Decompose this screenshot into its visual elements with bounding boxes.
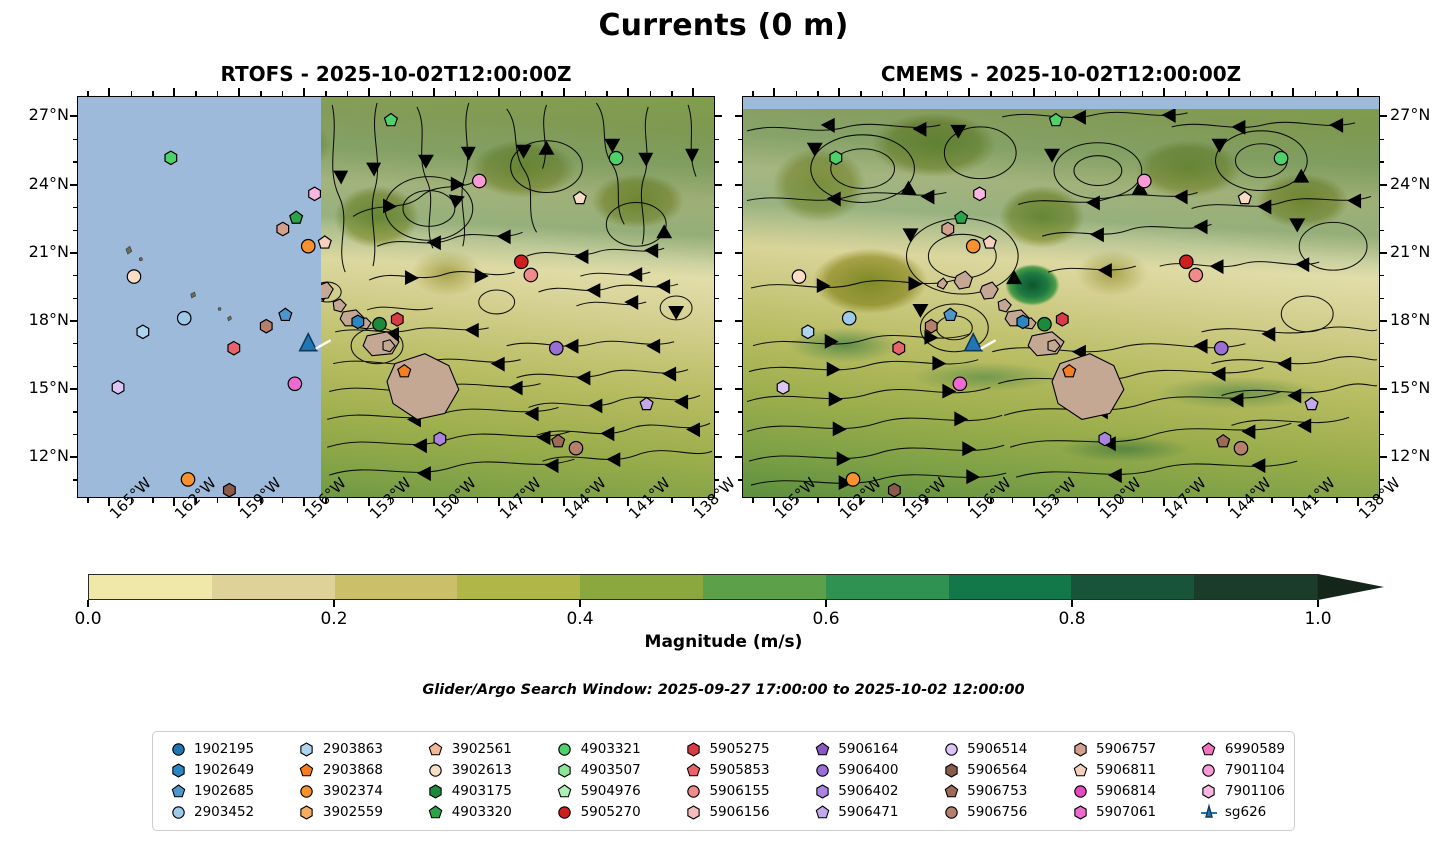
platform-marker[interactable] bbox=[1274, 151, 1287, 164]
platform-marker[interactable] bbox=[373, 317, 386, 330]
xtick-minor bbox=[1250, 498, 1251, 503]
platform-markers-cmems[interactable] bbox=[743, 97, 1379, 497]
xtick-top bbox=[303, 88, 305, 96]
legend-item[interactable]: 5906756 bbox=[935, 802, 1064, 822]
platform-marker[interactable] bbox=[925, 319, 937, 332]
platform-marker[interactable] bbox=[846, 473, 859, 486]
xtick-minor bbox=[282, 498, 283, 503]
xtick-minor bbox=[1336, 498, 1337, 503]
platform-marker[interactable] bbox=[260, 319, 272, 332]
xtick-minor bbox=[1055, 498, 1056, 503]
ytick bbox=[70, 320, 77, 322]
legend-item[interactable]: 7901106 bbox=[1193, 781, 1285, 801]
colorbar-tick-label: 0.6 bbox=[812, 609, 839, 629]
platform-marker[interactable] bbox=[290, 211, 303, 223]
ytick bbox=[1380, 115, 1387, 117]
platform-marker-icon bbox=[420, 785, 452, 798]
ytick-minor bbox=[73, 139, 77, 140]
xtick-minor bbox=[1185, 498, 1186, 503]
platform-marker[interactable] bbox=[1215, 341, 1228, 354]
legend-item[interactable]: 5906753 bbox=[935, 781, 1064, 801]
colorbar-tick-label: 1.0 bbox=[1304, 609, 1331, 629]
platform-marker[interactable] bbox=[889, 483, 901, 496]
legend-item-label: 4903507 bbox=[581, 762, 641, 778]
ytick bbox=[715, 115, 722, 117]
legend-item-label: 5906564 bbox=[967, 762, 1027, 778]
platform-marker[interactable] bbox=[137, 325, 149, 338]
platform-marker[interactable] bbox=[942, 222, 954, 235]
xtick-minor bbox=[520, 498, 521, 503]
platform-legend: 1902195190264919026852903452290386329038… bbox=[152, 731, 1295, 831]
legend-item[interactable]: 5906814 bbox=[1064, 781, 1193, 801]
xtick-top-minor bbox=[1185, 91, 1186, 96]
platform-marker[interactable] bbox=[842, 311, 855, 324]
xtick-top-minor bbox=[477, 91, 478, 96]
legend-item[interactable]: 4903321 bbox=[549, 739, 678, 759]
platform-marker[interactable] bbox=[277, 222, 289, 235]
colorbar-extend-arrow bbox=[1318, 574, 1384, 600]
xtick-top-minor bbox=[1206, 91, 1207, 96]
platform-marker-icon bbox=[549, 785, 581, 798]
xtick-minor bbox=[882, 498, 883, 503]
xtick-minor bbox=[752, 498, 753, 503]
ytick-minor bbox=[73, 366, 77, 367]
platform-marker-icon bbox=[935, 785, 967, 798]
xtick-minor bbox=[347, 498, 348, 503]
legend-item[interactable]: 5906156 bbox=[677, 802, 806, 822]
xtick-minor bbox=[390, 498, 391, 503]
platform-marker[interactable] bbox=[893, 341, 905, 354]
legend-item-label: 5906811 bbox=[1096, 762, 1156, 778]
platform-marker[interactable] bbox=[127, 270, 140, 283]
colorbar-gradient bbox=[88, 574, 1318, 600]
platform-marker-icon bbox=[291, 764, 323, 777]
xtick-top-minor bbox=[817, 91, 818, 96]
xtick-top-minor bbox=[925, 91, 926, 96]
legend-item-label: 3902559 bbox=[323, 804, 383, 820]
legend-grid: 1902195190264919026852903452290386329038… bbox=[162, 739, 1285, 822]
xtick-minor bbox=[217, 498, 218, 503]
legend-item-label: 2903863 bbox=[323, 741, 383, 757]
xtick-top-minor bbox=[260, 91, 261, 96]
platform-marker[interactable] bbox=[1180, 255, 1193, 268]
platform-marker-icon bbox=[677, 806, 709, 819]
colorbar-segment-7 bbox=[949, 575, 1072, 599]
legend-item-label: 4903321 bbox=[581, 741, 641, 757]
legend-item[interactable]: 4903507 bbox=[549, 760, 678, 780]
xtick-top-minor bbox=[1315, 91, 1316, 96]
xtick-top-minor bbox=[860, 91, 861, 96]
colorbar-tick bbox=[825, 600, 827, 607]
legend-item-label: 1902649 bbox=[194, 762, 254, 778]
legend-item-label: 3902374 bbox=[323, 783, 383, 799]
platform-marker[interactable] bbox=[550, 341, 563, 354]
legend-item-label: 2903868 bbox=[323, 762, 383, 778]
legend-item[interactable]: 5906400 bbox=[806, 760, 935, 780]
legend-item[interactable]: 2903868 bbox=[291, 760, 420, 780]
platform-marker-icon bbox=[420, 806, 452, 819]
colorbar-tick bbox=[87, 600, 89, 607]
platform-marker[interactable] bbox=[279, 308, 292, 320]
legend-item-label: 5906164 bbox=[838, 741, 898, 757]
platform-marker[interactable] bbox=[1238, 191, 1251, 203]
ytick-minor bbox=[738, 411, 742, 412]
xtick-top-minor bbox=[1336, 91, 1337, 96]
ytick bbox=[715, 252, 722, 254]
colorbar-tick-label: 0.2 bbox=[320, 609, 347, 629]
legend-item-label: 5906756 bbox=[967, 804, 1027, 820]
colorbar[interactable] bbox=[88, 574, 1318, 600]
legend-item[interactable]: 3902561 bbox=[420, 739, 549, 759]
platform-marker[interactable] bbox=[944, 308, 957, 320]
xtick-top-minor bbox=[585, 91, 586, 96]
platform-marker-icon bbox=[162, 764, 194, 777]
platform-marker[interactable] bbox=[1189, 268, 1202, 281]
platform-marker[interactable] bbox=[1017, 315, 1029, 328]
platform-marker-icon bbox=[935, 764, 967, 777]
ytick-minor bbox=[715, 207, 719, 208]
xtick-minor bbox=[87, 498, 88, 503]
platform-marker-icon bbox=[935, 806, 967, 819]
xtick-minor bbox=[1315, 498, 1316, 503]
platform-marker[interactable] bbox=[1038, 317, 1051, 330]
legend-item-label: 5906471 bbox=[838, 804, 898, 820]
xtick-minor bbox=[606, 498, 607, 503]
platform-marker[interactable] bbox=[802, 325, 814, 338]
xtick-top bbox=[627, 88, 629, 96]
platform-marker[interactable] bbox=[983, 236, 996, 248]
xtick-top-minor bbox=[520, 91, 521, 96]
xtick-minor bbox=[1012, 498, 1013, 503]
xtick-minor bbox=[195, 498, 196, 503]
ytick-minor bbox=[738, 479, 742, 480]
platform-marker[interactable] bbox=[1138, 174, 1151, 187]
ytick-label-right: 21°N bbox=[1390, 242, 1430, 261]
xtick-top bbox=[903, 88, 905, 96]
legend-item[interactable]: 5906402 bbox=[806, 781, 935, 801]
platform-marker-icon bbox=[1064, 806, 1096, 819]
legend-item[interactable]: 5906757 bbox=[1064, 739, 1193, 759]
platform-marker-icon bbox=[291, 743, 323, 756]
xtick-top bbox=[1033, 88, 1035, 96]
platform-marker-icon bbox=[1064, 764, 1096, 777]
ytick bbox=[1380, 388, 1387, 390]
ytick bbox=[715, 388, 722, 390]
platform-marker[interactable] bbox=[524, 268, 537, 281]
platform-marker[interactable] bbox=[228, 341, 240, 354]
platform-marker-icon bbox=[806, 785, 838, 798]
platform-marker-icon bbox=[162, 785, 194, 798]
xtick-top-minor bbox=[131, 91, 132, 96]
legend-item-label: 5906757 bbox=[1096, 741, 1156, 757]
legend-item-label: 5906753 bbox=[967, 783, 1027, 799]
xtick-minor bbox=[650, 498, 651, 503]
ytick-minor bbox=[738, 343, 742, 344]
xtick-top bbox=[433, 88, 435, 96]
platform-marker[interactable] bbox=[177, 311, 190, 324]
xtick-top bbox=[108, 88, 110, 96]
platform-marker[interactable] bbox=[609, 151, 622, 164]
legend-item-label: 5906814 bbox=[1096, 783, 1156, 799]
ytick-label-left: 27°N bbox=[3, 105, 69, 124]
platform-marker[interactable] bbox=[1050, 113, 1063, 125]
map-panel-rtofs[interactable] bbox=[77, 96, 715, 498]
colorbar-segment-8 bbox=[1071, 575, 1194, 599]
platform-marker[interactable] bbox=[573, 191, 586, 203]
xtick-top bbox=[1357, 88, 1359, 96]
xtick-top-minor bbox=[152, 91, 153, 96]
platform-marker-icon bbox=[1193, 785, 1225, 798]
platform-marker[interactable] bbox=[385, 113, 398, 125]
platform-marker-icon bbox=[677, 764, 709, 777]
xtick-minor bbox=[455, 498, 456, 503]
legend-item-label: 7901104 bbox=[1225, 762, 1285, 778]
xtick-top bbox=[968, 88, 970, 96]
platform-marker[interactable] bbox=[224, 483, 236, 496]
legend-item[interactable]: 5904976 bbox=[549, 781, 678, 801]
legend-item[interactable]: 7901104 bbox=[1193, 760, 1285, 780]
platform-marker[interactable] bbox=[1056, 313, 1068, 326]
legend-item[interactable]: sg626 bbox=[1193, 802, 1285, 822]
legend-item-label: 7901106 bbox=[1225, 783, 1285, 799]
xtick-top-minor bbox=[671, 91, 672, 96]
platform-marker[interactable] bbox=[112, 381, 124, 394]
colorbar-axis-label: Magnitude (m/s) bbox=[0, 632, 1447, 652]
ytick bbox=[70, 184, 77, 186]
colorbar-segment-0 bbox=[89, 575, 212, 599]
platform-marker-icon bbox=[806, 743, 838, 756]
platform-marker-icon bbox=[806, 764, 838, 777]
ytick-minor bbox=[738, 230, 742, 231]
legend-item[interactable]: 5906514 bbox=[935, 739, 1064, 759]
platform-marker-icon bbox=[291, 785, 323, 798]
platform-marker[interactable] bbox=[391, 313, 403, 326]
platform-marker[interactable] bbox=[569, 441, 582, 454]
ytick-label-left: 15°N bbox=[3, 378, 69, 397]
platform-marker-icon bbox=[1064, 743, 1096, 756]
platform-marker[interactable] bbox=[318, 236, 331, 248]
panel-title-rtofs: RTOFS - 2025-10-02T12:00:00Z bbox=[77, 62, 715, 86]
ytick-label-right: 27°N bbox=[1390, 105, 1430, 124]
xtick-top bbox=[1098, 88, 1100, 96]
legend-item-label: 4903320 bbox=[452, 804, 512, 820]
ytick-label-right: 15°N bbox=[1390, 378, 1430, 397]
ytick-minor bbox=[73, 207, 77, 208]
xtick-top-minor bbox=[541, 91, 542, 96]
colorbar-segment-4 bbox=[580, 575, 703, 599]
legend-item[interactable]: 4903320 bbox=[420, 802, 549, 822]
platform-markers-rtofs[interactable] bbox=[78, 97, 714, 497]
legend-item[interactable]: 5905270 bbox=[549, 802, 678, 822]
platform-marker[interactable] bbox=[515, 255, 528, 268]
platform-marker-icon bbox=[806, 806, 838, 819]
platform-marker[interactable] bbox=[1234, 441, 1247, 454]
ytick bbox=[715, 320, 722, 322]
legend-item-label: 4903175 bbox=[452, 783, 512, 799]
xtick-top bbox=[498, 88, 500, 96]
ytick-minor bbox=[715, 139, 719, 140]
xtick-top bbox=[368, 88, 370, 96]
xtick-minor bbox=[477, 498, 478, 503]
platform-marker-icon bbox=[677, 785, 709, 798]
legend-item[interactable]: 5906164 bbox=[806, 739, 935, 759]
legend-item-label: 5905270 bbox=[581, 804, 641, 820]
xtick-top-minor bbox=[1012, 91, 1013, 96]
glider-marker[interactable] bbox=[965, 334, 982, 351]
ytick-minor bbox=[1380, 298, 1384, 299]
platform-marker[interactable] bbox=[352, 315, 364, 328]
colorbar-segment-5 bbox=[703, 575, 826, 599]
ytick bbox=[70, 115, 77, 117]
legend-item[interactable]: 2903452 bbox=[162, 802, 291, 822]
legend-item[interactable]: 6990589 bbox=[1193, 739, 1285, 759]
platform-marker[interactable] bbox=[398, 365, 411, 377]
legend-item-label: 1902195 bbox=[194, 741, 254, 757]
ytick bbox=[1380, 184, 1387, 186]
platform-marker-icon bbox=[1193, 764, 1225, 777]
ytick bbox=[735, 320, 742, 322]
xtick-minor bbox=[925, 498, 926, 503]
ytick bbox=[70, 252, 77, 254]
platform-marker[interactable] bbox=[434, 432, 446, 445]
legend-item-label: 5906402 bbox=[838, 783, 898, 799]
ytick-label-left: 12°N bbox=[3, 446, 69, 465]
platform-marker[interactable] bbox=[640, 397, 653, 409]
legend-item[interactable]: 5906471 bbox=[806, 802, 935, 822]
glider-marker[interactable] bbox=[300, 334, 317, 351]
platform-marker[interactable] bbox=[830, 151, 842, 164]
legend-item[interactable]: 3902613 bbox=[420, 760, 549, 780]
legend-item[interactable]: 1902195 bbox=[162, 739, 291, 759]
xtick-minor bbox=[260, 498, 261, 503]
legend-item[interactable]: 4903175 bbox=[420, 781, 549, 801]
xtick-top-minor bbox=[347, 91, 348, 96]
legend-item-label: 5906155 bbox=[709, 783, 769, 799]
ytick-minor bbox=[73, 343, 77, 344]
legend-item-label: 5906514 bbox=[967, 741, 1027, 757]
legend-item[interactable]: 5905275 bbox=[677, 739, 806, 759]
ytick-minor bbox=[1380, 343, 1384, 344]
xtick-minor bbox=[860, 498, 861, 503]
platform-marker[interactable] bbox=[967, 239, 980, 252]
ytick-minor bbox=[715, 366, 719, 367]
platform-marker-icon bbox=[677, 743, 709, 756]
platform-marker[interactable] bbox=[473, 174, 486, 187]
xtick-top-minor bbox=[1120, 91, 1121, 96]
xtick-top-minor bbox=[217, 91, 218, 96]
map-panel-cmems[interactable] bbox=[742, 96, 1380, 498]
xtick-top bbox=[1292, 88, 1294, 96]
ytick-minor bbox=[738, 434, 742, 435]
ytick-minor bbox=[73, 161, 77, 162]
legend-item[interactable]: 1902685 bbox=[162, 781, 291, 801]
ytick-minor bbox=[73, 479, 77, 480]
ytick bbox=[70, 388, 77, 390]
platform-marker-icon bbox=[549, 743, 581, 756]
platform-marker-icon bbox=[420, 743, 452, 756]
xtick-top-minor bbox=[87, 91, 88, 96]
ytick-minor bbox=[73, 275, 77, 276]
ytick bbox=[1380, 320, 1387, 322]
xtick-minor bbox=[947, 498, 948, 503]
ytick-minor bbox=[1380, 230, 1384, 231]
platform-marker[interactable] bbox=[302, 239, 315, 252]
xtick-minor bbox=[1077, 498, 1078, 503]
ytick-label-right: 12°N bbox=[1390, 446, 1430, 465]
legend-item-label: 3902561 bbox=[452, 741, 512, 757]
platform-marker[interactable] bbox=[1063, 365, 1076, 377]
xtick-minor bbox=[1142, 498, 1143, 503]
xtick-top-minor bbox=[796, 91, 797, 96]
colorbar-tick-label: 0.4 bbox=[566, 609, 593, 629]
platform-marker[interactable] bbox=[777, 381, 789, 394]
legend-item[interactable]: 5906564 bbox=[935, 760, 1064, 780]
platform-marker[interactable] bbox=[953, 377, 966, 390]
xtick-top-minor bbox=[1077, 91, 1078, 96]
platform-marker[interactable] bbox=[309, 187, 321, 200]
platform-marker-icon bbox=[1193, 743, 1225, 756]
platform-marker[interactable] bbox=[181, 473, 194, 486]
platform-marker[interactable] bbox=[1305, 397, 1318, 409]
legend-item-label: 5904976 bbox=[581, 783, 641, 799]
xtick-top bbox=[838, 88, 840, 96]
platform-marker[interactable] bbox=[955, 211, 968, 223]
legend-item[interactable]: 5907061 bbox=[1064, 802, 1193, 822]
platform-marker-icon bbox=[420, 764, 452, 777]
xtick-top-minor bbox=[1250, 91, 1251, 96]
xtick-top-minor bbox=[990, 91, 991, 96]
platform-marker[interactable] bbox=[165, 151, 177, 164]
legend-item-label: sg626 bbox=[1225, 804, 1266, 820]
legend-item[interactable]: 5906811 bbox=[1064, 760, 1193, 780]
xtick-minor bbox=[541, 498, 542, 503]
platform-marker[interactable] bbox=[792, 270, 805, 283]
ytick-label-right: 18°N bbox=[1390, 310, 1430, 329]
ytick bbox=[715, 184, 722, 186]
legend-item[interactable]: 3902559 bbox=[291, 802, 420, 822]
xtick-minor bbox=[817, 498, 818, 503]
legend-item[interactable]: 2903863 bbox=[291, 739, 420, 759]
xtick-top bbox=[1163, 88, 1165, 96]
xtick-top bbox=[692, 88, 694, 96]
ytick bbox=[735, 456, 742, 458]
ytick-minor bbox=[738, 366, 742, 367]
xtick-minor bbox=[131, 498, 132, 503]
xtick-minor bbox=[585, 498, 586, 503]
xtick-top-minor bbox=[606, 91, 607, 96]
ytick-minor bbox=[738, 161, 742, 162]
xtick-top-minor bbox=[455, 91, 456, 96]
xtick-top-minor bbox=[752, 91, 753, 96]
xtick-top bbox=[773, 88, 775, 96]
ytick-minor bbox=[715, 411, 719, 412]
platform-marker[interactable] bbox=[1099, 432, 1111, 445]
platform-marker[interactable] bbox=[552, 435, 565, 447]
ytick-minor bbox=[1380, 161, 1384, 162]
legend-item[interactable]: 3902374 bbox=[291, 781, 420, 801]
platform-marker[interactable] bbox=[1217, 435, 1230, 447]
legend-item[interactable]: 5905853 bbox=[677, 760, 806, 780]
legend-item[interactable]: 5906155 bbox=[677, 781, 806, 801]
ytick-minor bbox=[738, 275, 742, 276]
ytick bbox=[735, 184, 742, 186]
ytick-minor bbox=[738, 298, 742, 299]
colorbar-tick bbox=[579, 600, 581, 607]
xtick-top bbox=[563, 88, 565, 96]
platform-marker[interactable] bbox=[974, 187, 986, 200]
platform-marker[interactable] bbox=[288, 377, 301, 390]
legend-item[interactable]: 1902649 bbox=[162, 760, 291, 780]
